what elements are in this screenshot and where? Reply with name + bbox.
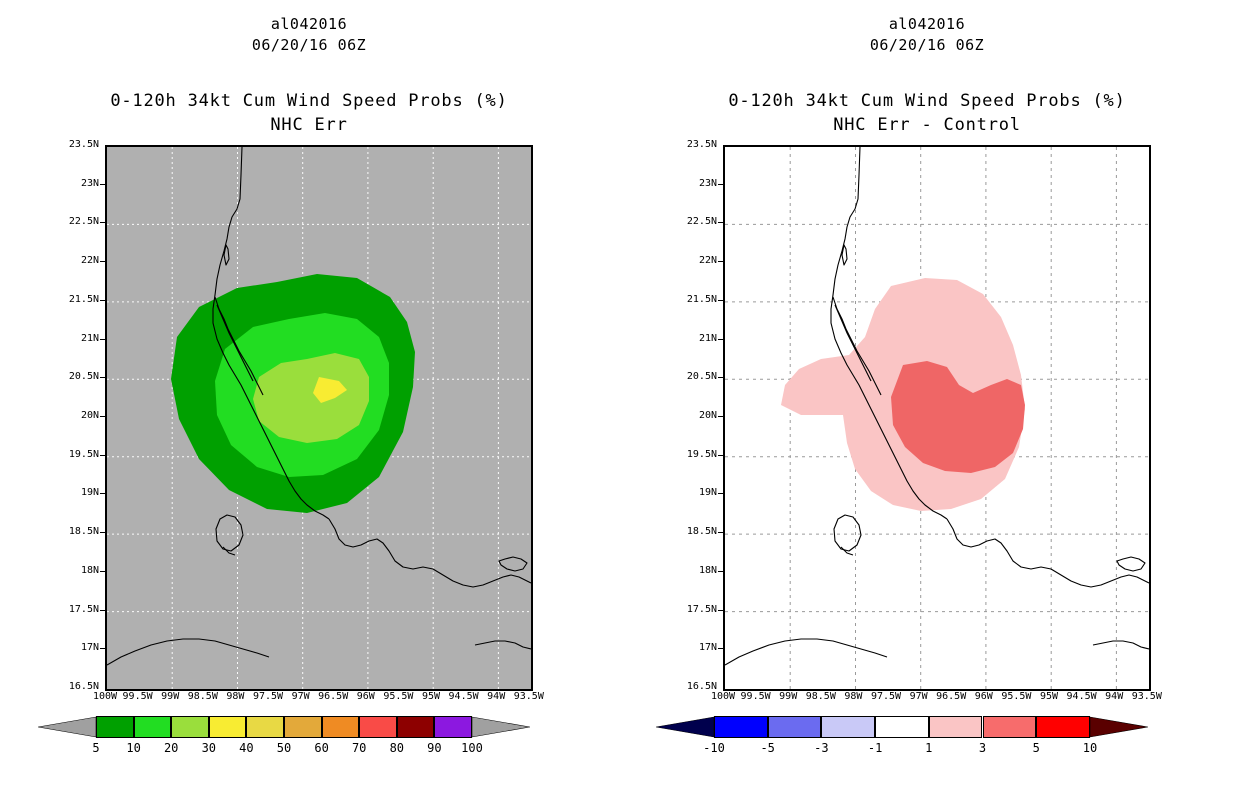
colorbar-right-label-0: -10 (703, 742, 725, 754)
colorbar-left-label-5: 50 (277, 742, 291, 754)
ytick-right-10 (718, 532, 723, 533)
ytick-left-1 (100, 184, 105, 185)
colorbar-right-cap-high (1090, 716, 1148, 738)
left-subtitle: NHC Err (0, 113, 618, 137)
ytick-right-2 (718, 222, 723, 223)
colorbar-left-label-4: 40 (239, 742, 253, 754)
ytick-left-7 (100, 416, 105, 417)
colorbar-left-seg-1[interactable] (134, 716, 172, 738)
ytick-left-13 (100, 648, 105, 649)
ylabel-right-9: 19N (673, 488, 717, 498)
colorbar-left-cap-low (38, 716, 96, 738)
ylabel-right-6: 20.5N (673, 372, 717, 382)
ylabel-left-2: 22.5N (55, 217, 99, 227)
ytick-left-4 (100, 300, 105, 301)
ylabel-right-13: 17N (673, 643, 717, 653)
colorbar-left-label-2: 20 (164, 742, 178, 754)
right-storm-id: al042016 (618, 14, 1236, 35)
colorbar-right-label-2: -3 (814, 742, 828, 754)
colorbar-right-seg-1[interactable] (768, 716, 822, 738)
xlabel-right-13: 93.5W (1127, 692, 1167, 702)
colorbar-right-label-3: -1 (868, 742, 882, 754)
panel-right: al042016 06/20/16 06Z 0-120h 34kt Cum Wi… (618, 0, 1236, 800)
colorbar-left-label-0: 5 (92, 742, 99, 754)
ylabel-right-4: 21.5N (673, 295, 717, 305)
colorbar-left-label-7: 70 (352, 742, 366, 754)
colorbar-right-label-4: 1 (925, 742, 932, 754)
colorbar-left-label-1: 10 (126, 742, 140, 754)
colorbar-left-seg-2[interactable] (171, 716, 209, 738)
left-datetime: 06/20/16 06Z (0, 35, 618, 56)
colorbar-left-label-10: 100 (461, 742, 483, 754)
colorbar-right-label-7: 10 (1083, 742, 1097, 754)
ylabel-left-0: 23.5N (55, 140, 99, 150)
left-panel-headline: 0-120h 34kt Cum Wind Speed Probs (%) NHC… (0, 89, 618, 137)
colorbar-left-seg-4[interactable] (246, 716, 284, 738)
colorbar-right-cap-low (656, 716, 714, 738)
ylabel-left-4: 21.5N (55, 295, 99, 305)
colorbar-left-seg-6[interactable] (322, 716, 360, 738)
colorbar-left[interactable]: 5 10 20 30 40 50 60 70 80 90 100 (96, 716, 472, 738)
colorbar-left-label-9: 90 (427, 742, 441, 754)
left-storm-id: al042016 (0, 14, 618, 35)
coastline-right (725, 147, 1149, 689)
ytick-right-3 (718, 261, 723, 262)
colorbar-left-label-6: 60 (314, 742, 328, 754)
ylabel-left-1: 23N (55, 179, 99, 189)
colorbar-left-seg-8[interactable] (397, 716, 435, 738)
colorbar-right[interactable]: -10 -5 -3 -1 1 3 5 10 (714, 716, 1090, 738)
colorbar-left-seg-7[interactable] (359, 716, 397, 738)
ytick-left-8 (100, 455, 105, 456)
ytick-right-5 (718, 339, 723, 340)
ylabel-left-8: 19.5N (55, 450, 99, 460)
ytick-left-6 (100, 377, 105, 378)
ylabel-left-10: 18.5N (55, 527, 99, 537)
colorbar-left-seg-5[interactable] (284, 716, 322, 738)
colorbar-right-seg-2[interactable] (821, 716, 875, 738)
right-title: 0-120h 34kt Cum Wind Speed Probs (%) (618, 89, 1236, 113)
ylabel-left-13: 17N (55, 643, 99, 653)
xlabel-left-13: 93.5W (509, 692, 549, 702)
colorbar-left-label-3: 30 (202, 742, 216, 754)
ylabel-right-12: 17.5N (673, 605, 717, 615)
colorbar-right-label-5: 3 (979, 742, 986, 754)
ytick-left-10 (100, 532, 105, 533)
ytick-right-1 (718, 184, 723, 185)
ytick-left-5 (100, 339, 105, 340)
right-panel-headline: 0-120h 34kt Cum Wind Speed Probs (%) NHC… (618, 89, 1236, 137)
ylabel-right-0: 23.5N (673, 140, 717, 150)
colorbar-right-label-1: -5 (760, 742, 774, 754)
ylabel-right-1: 23N (673, 179, 717, 189)
ytick-left-12 (100, 610, 105, 611)
ytick-right-4 (718, 300, 723, 301)
left-title: 0-120h 34kt Cum Wind Speed Probs (%) (0, 89, 618, 113)
ytick-right-9 (718, 493, 723, 494)
ytick-right-13 (718, 648, 723, 649)
colorbar-left-seg-3[interactable] (209, 716, 247, 738)
right-panel-titles: al042016 06/20/16 06Z (618, 14, 1236, 56)
ytick-left-9 (100, 493, 105, 494)
colorbar-left-cap-high (472, 716, 530, 738)
colorbar-right-seg-4[interactable] (929, 716, 983, 738)
ylabel-right-10: 18.5N (673, 527, 717, 537)
ytick-right-8 (718, 455, 723, 456)
colorbar-left-seg-0[interactable] (96, 716, 134, 738)
ytick-right-6 (718, 377, 723, 378)
colorbar-right-label-6: 5 (1033, 742, 1040, 754)
ylabel-left-11: 18N (55, 566, 99, 576)
ytick-right-7 (718, 416, 723, 417)
ylabel-left-6: 20.5N (55, 372, 99, 382)
colorbar-right-seg-3[interactable] (875, 716, 929, 738)
right-subtitle: NHC Err - Control (618, 113, 1236, 137)
ylabel-right-7: 20N (673, 411, 717, 421)
colorbar-right-seg-0[interactable] (714, 716, 768, 738)
ylabel-left-3: 22N (55, 256, 99, 266)
ylabel-left-9: 19N (55, 488, 99, 498)
ylabel-left-5: 21N (55, 334, 99, 344)
ylabel-right-5: 21N (673, 334, 717, 344)
ylabel-right-2: 22.5N (673, 217, 717, 227)
right-datetime: 06/20/16 06Z (618, 35, 1236, 56)
ylabel-left-12: 17.5N (55, 605, 99, 615)
ylabel-right-11: 18N (673, 566, 717, 576)
colorbar-left-seg-9[interactable] (434, 716, 472, 738)
ytick-left-2 (100, 222, 105, 223)
colorbar-right-seg-5[interactable] (983, 716, 1037, 738)
map-plot-left[interactable] (105, 145, 533, 691)
map-plot-right[interactable] (723, 145, 1151, 691)
ytick-right-12 (718, 610, 723, 611)
left-panel-titles: al042016 06/20/16 06Z (0, 14, 618, 56)
ytick-left-11 (100, 571, 105, 572)
coastline-left (107, 147, 531, 689)
ylabel-right-3: 22N (673, 256, 717, 266)
colorbar-left-label-8: 80 (390, 742, 404, 754)
ylabel-right-8: 19.5N (673, 450, 717, 460)
ytick-left-3 (100, 261, 105, 262)
colorbar-right-seg-6[interactable] (1036, 716, 1090, 738)
ytick-right-11 (718, 571, 723, 572)
ylabel-left-7: 20N (55, 411, 99, 421)
panel-left: al042016 06/20/16 06Z 0-120h 34kt Cum Wi… (0, 0, 618, 800)
